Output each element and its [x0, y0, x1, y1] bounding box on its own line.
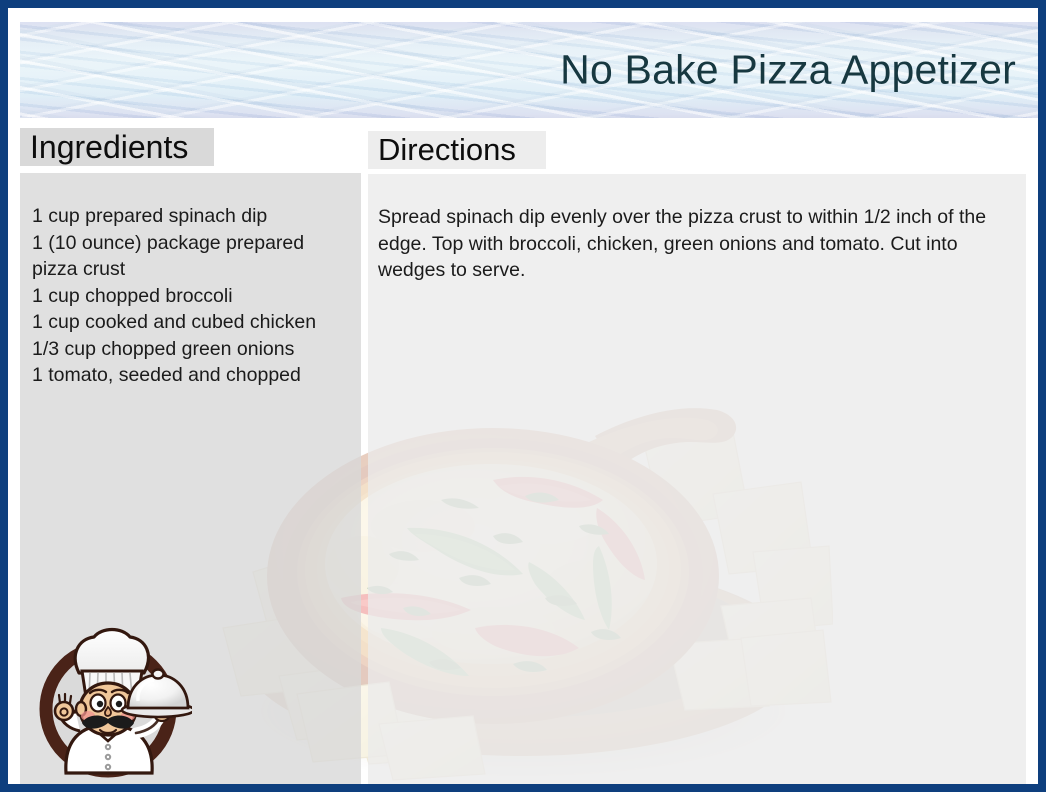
directions-text: Spread spinach dip evenly over the pizza…	[378, 204, 1012, 284]
slide-canvas: No Bake Pizza Appetizer	[8, 8, 1038, 784]
directions-panel: Directions Spread spinach dip evenly ove…	[368, 131, 1026, 784]
directions-heading: Directions	[368, 131, 546, 169]
list-item: 1 cup prepared spinach dip	[32, 203, 349, 230]
list-item: 1 (10 ounce) package prepared pizza crus…	[32, 230, 349, 283]
chef-mascot-logo	[24, 613, 192, 781]
slide: No Bake Pizza Appetizer	[0, 0, 1046, 792]
ingredients-heading: Ingredients	[20, 128, 214, 166]
title-banner: No Bake Pizza Appetizer	[20, 22, 1038, 118]
page-title: No Bake Pizza Appetizer	[560, 50, 1016, 91]
list-item: 1 tomato, seeded and chopped	[32, 362, 349, 389]
list-item: 1/3 cup chopped green onions	[32, 336, 349, 363]
list-item: 1 cup chopped broccoli	[32, 283, 349, 310]
list-item: 1 cup cooked and cubed chicken	[32, 309, 349, 336]
ingredient-list: 1 cup prepared spinach dip 1 (10 ounce) …	[32, 203, 349, 389]
directions-body: Spread spinach dip evenly over the pizza…	[368, 174, 1026, 784]
